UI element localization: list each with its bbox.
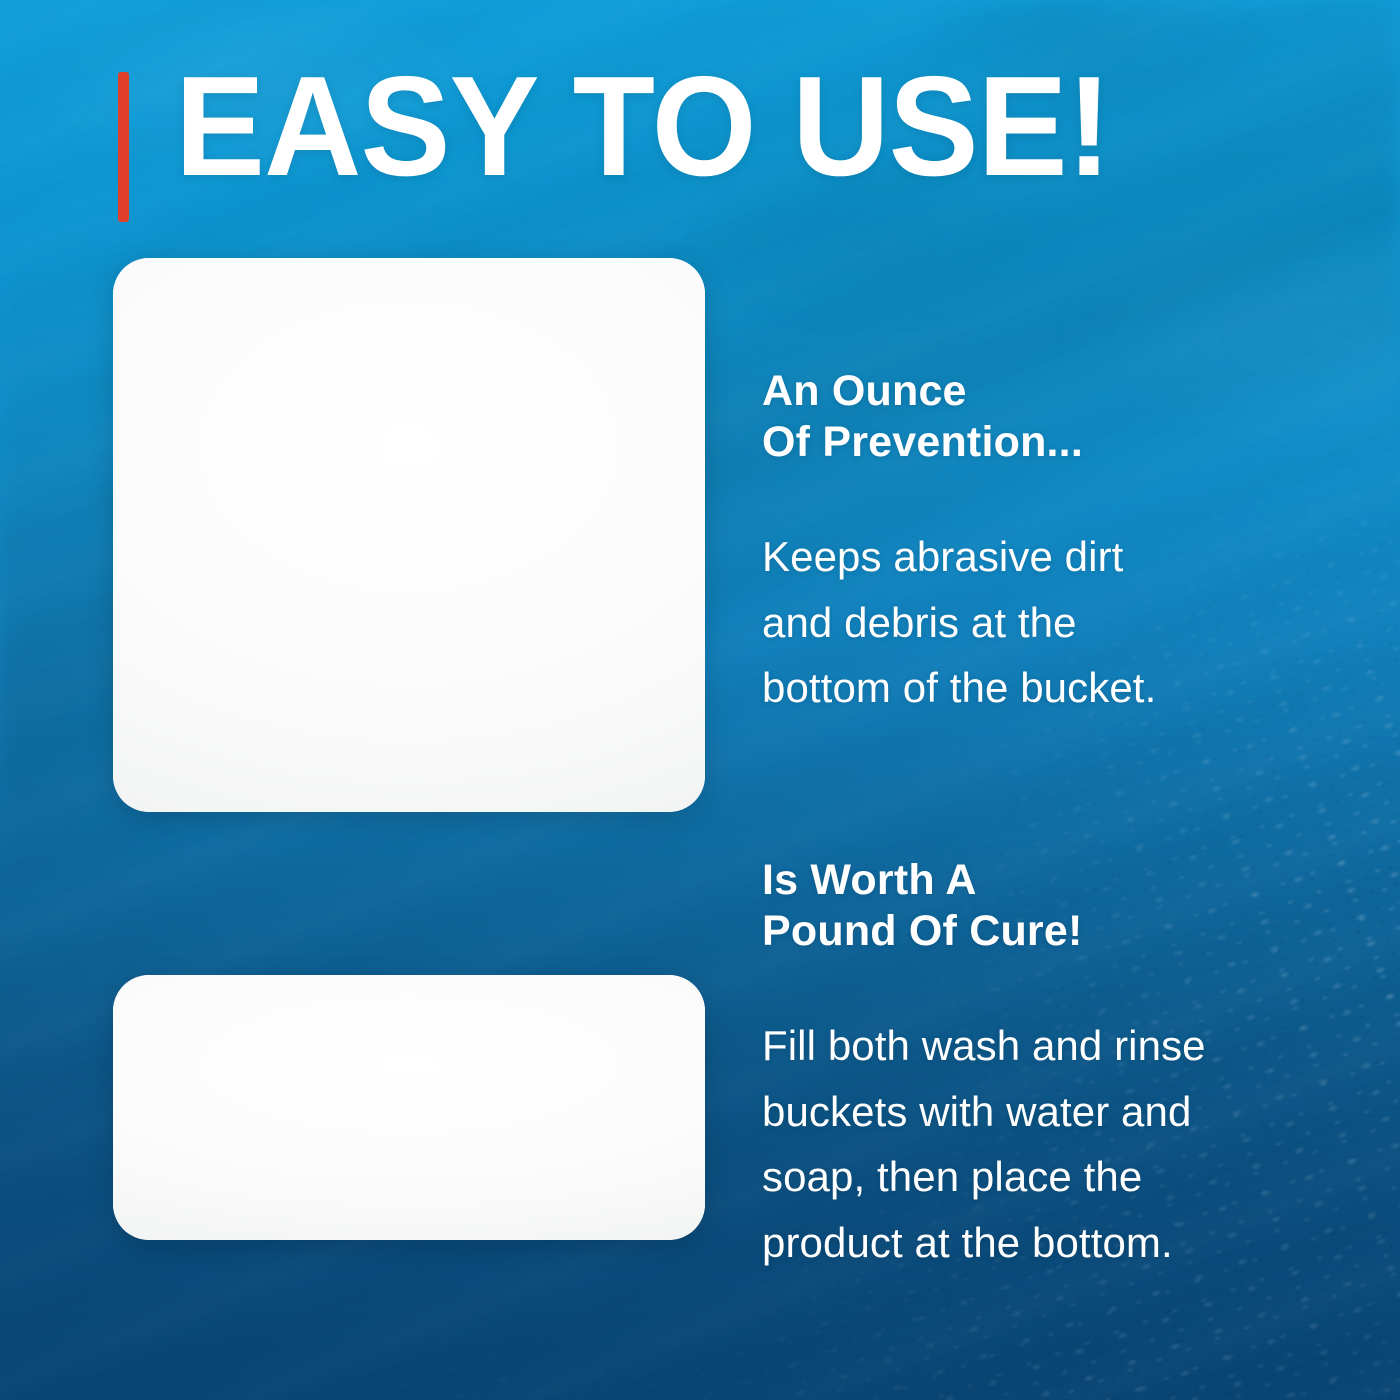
- product-photo-top: [113, 258, 705, 812]
- photo-backdrop: [113, 258, 705, 812]
- product-image-card-top: [113, 258, 705, 812]
- accent-bar: [118, 72, 129, 222]
- poster-canvas: EASY TO USE!: [0, 0, 1400, 1400]
- block-2-body: Fill both wash and rinse buckets with wa…: [762, 1013, 1206, 1275]
- block-1-heading: An Ounce Of Prevention...: [762, 366, 1083, 467]
- title-row: EASY TO USE!: [118, 66, 1160, 222]
- product-image-card-bottom: [113, 975, 705, 1240]
- block-1-body: Keeps abrasive dirt and debris at the bo…: [762, 524, 1156, 721]
- photo-backdrop: [113, 975, 705, 1240]
- page-title: EASY TO USE!: [175, 66, 1111, 188]
- product-photo-bottom: [113, 975, 705, 1240]
- block-2-heading: Is Worth A Pound Of Cure!: [762, 855, 1083, 956]
